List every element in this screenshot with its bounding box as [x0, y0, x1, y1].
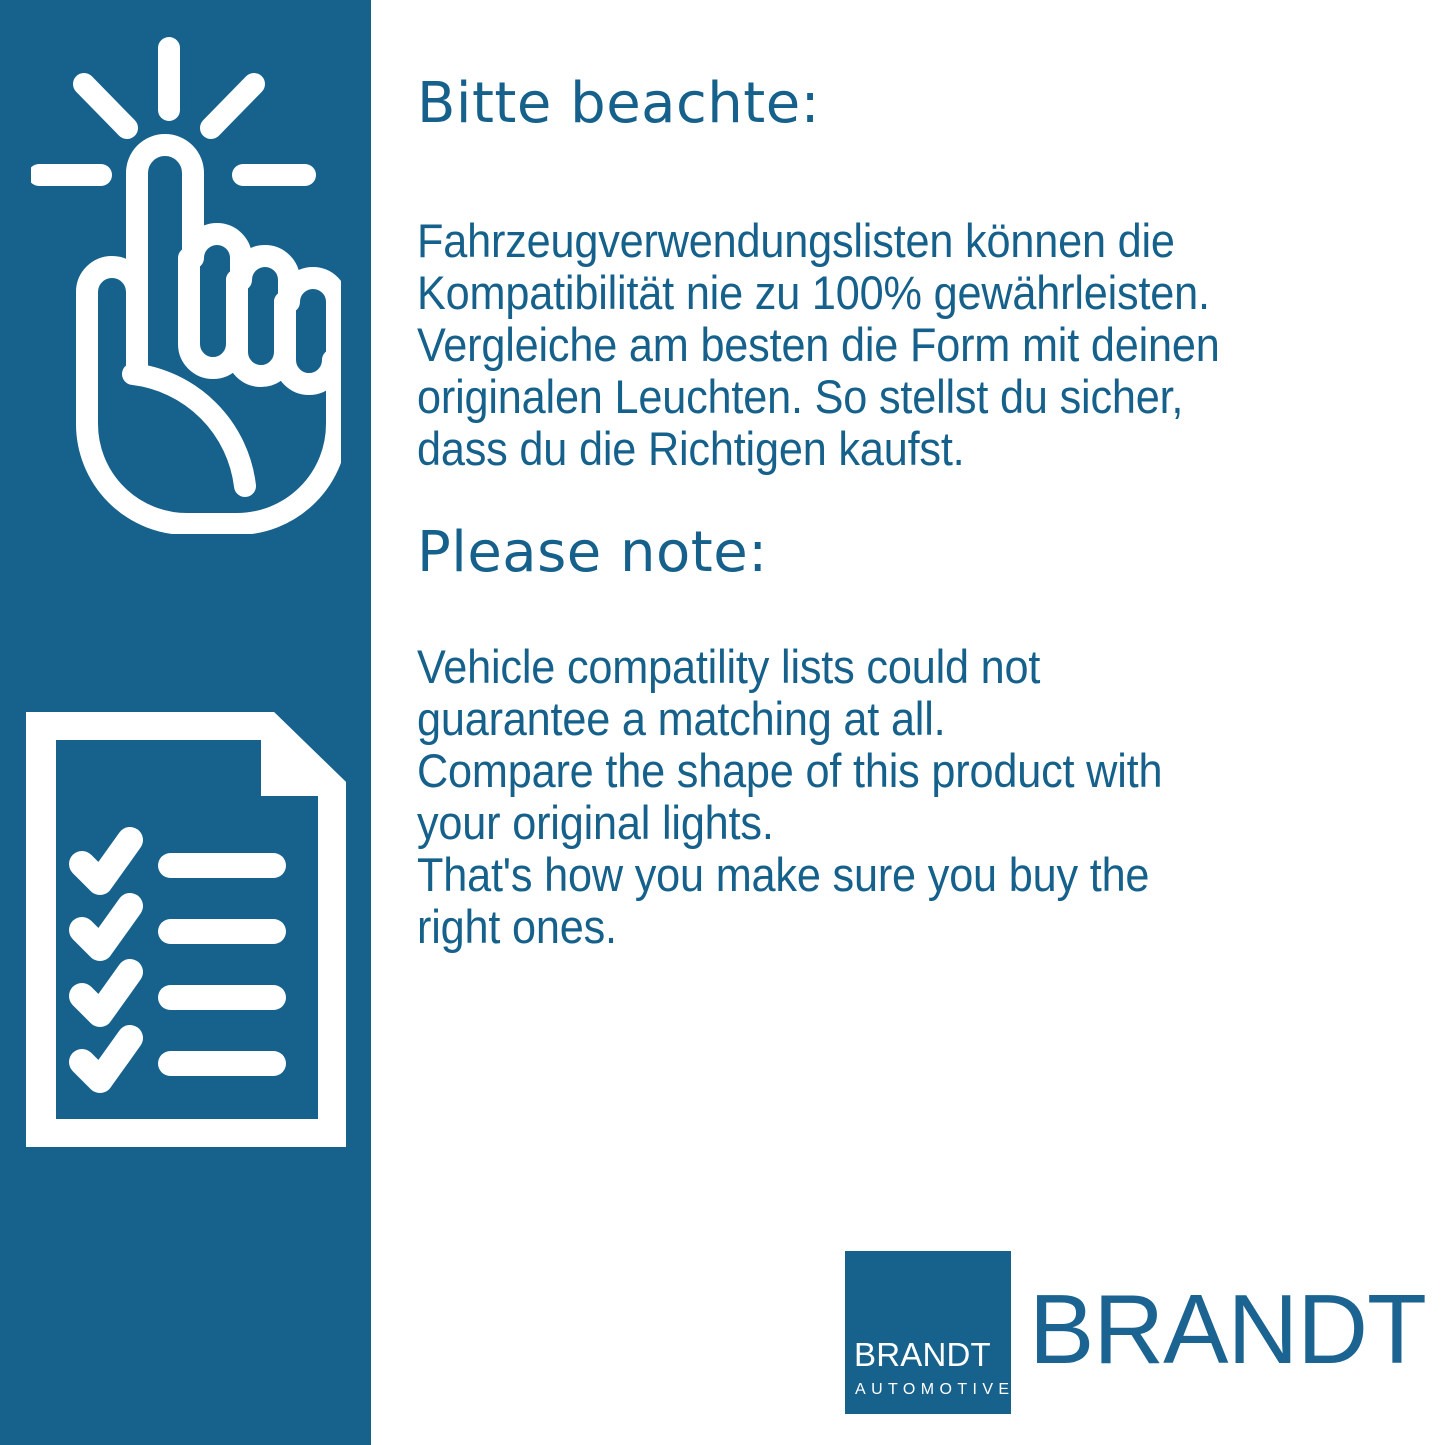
brandt-logo: BRANDT AUTOMOTIVE BRANDT	[845, 1251, 1405, 1416]
german-body-text: Fahrzeugverwendungslisten können die Kom…	[417, 215, 1346, 475]
german-heading: Bitte beachte:	[417, 76, 820, 132]
pointing-hand-click-icon	[0, 34, 371, 534]
english-heading: Please note:	[417, 525, 768, 581]
brandt-logo-mark-name: BRANDT	[854, 1338, 1004, 1371]
notice-card: Bitte beachte: Fahrzeugverwendungslisten…	[0, 0, 1445, 1445]
content-area: Bitte beachte: Fahrzeugverwendungslisten…	[371, 0, 1445, 1445]
english-body-text: Vehicle compatility lists could not guar…	[417, 641, 1346, 953]
brandt-wordmark: BRANDT	[1029, 1280, 1426, 1378]
checklist-document-icon	[0, 712, 371, 1157]
brandt-logo-mark-subtitle: AUTOMOTIVE	[855, 1382, 1005, 1398]
brandt-logo-mark: BRANDT AUTOMOTIVE	[845, 1251, 1011, 1414]
sidebar	[0, 0, 371, 1445]
